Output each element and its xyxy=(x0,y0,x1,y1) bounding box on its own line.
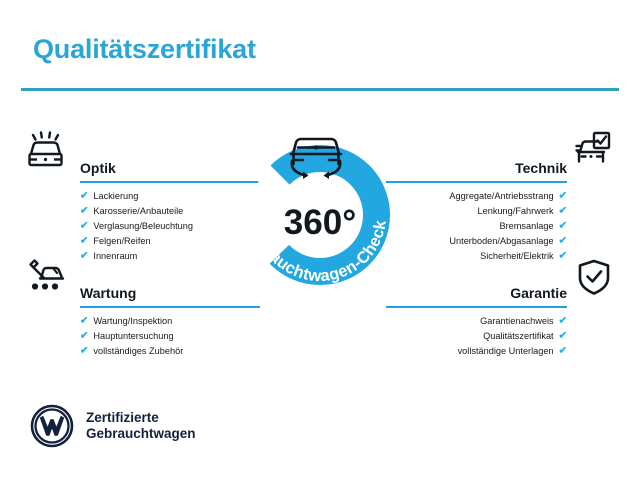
list-item-label: Garantienachweis xyxy=(480,315,554,328)
section-optik-title: Optik xyxy=(80,161,116,175)
list-item-label: Unterboden/Abgasanlage xyxy=(449,235,553,248)
section-wartung-title: Wartung xyxy=(80,286,136,300)
list-item: Qualitätszertifikat ✔ xyxy=(386,330,567,343)
list-item-label: Verglasung/Beleuchtung xyxy=(93,220,193,233)
wrench-car-icon xyxy=(24,255,70,297)
list-item-label: Aggregate/Antriebsstrang xyxy=(449,190,553,203)
list-item: Sicherheit/Elektrik ✔ xyxy=(386,250,567,263)
check-icon: ✔ xyxy=(559,316,567,326)
list-item-label: Hauptuntersuchung xyxy=(93,330,173,343)
list-item: vollständige Unterlagen ✔ xyxy=(386,345,567,358)
check-icon: ✔ xyxy=(559,331,567,341)
check-icon: ✔ xyxy=(80,251,88,261)
list-item: ✔ Wartung/Inspektion xyxy=(80,315,260,328)
badge-360-gebrauchtwagen-check: Gebrauchtwagen-Check 360° xyxy=(228,118,412,308)
check-icon: ✔ xyxy=(80,346,88,356)
section-technik-items: Aggregate/Antriebsstrang ✔ Lenkung/Fahrw… xyxy=(386,190,567,263)
list-item: Lenkung/Fahrwerk ✔ xyxy=(386,205,567,218)
car-checkbox-icon xyxy=(568,130,614,172)
list-item-label: Lackierung xyxy=(93,190,138,203)
section-technik: Technik Aggregate/Antriebsstrang ✔ Lenku… xyxy=(386,145,567,263)
shield-check-icon xyxy=(571,257,617,299)
section-technik-header: Technik xyxy=(386,145,567,175)
check-icon: ✔ xyxy=(80,236,88,246)
car-wash-icon xyxy=(24,130,70,172)
check-icon: ✔ xyxy=(80,316,88,326)
list-item-label: Qualitätszertifikat xyxy=(483,330,553,343)
check-icon: ✔ xyxy=(80,331,88,341)
list-item-label: Sicherheit/Elektrik xyxy=(480,250,554,263)
section-garantie-items: Garantienachweis ✔ Qualitätszertifikat ✔… xyxy=(386,315,567,358)
section-garantie-header: Garantie xyxy=(386,270,567,300)
check-icon: ✔ xyxy=(80,221,88,231)
list-item-label: Innenraum xyxy=(93,250,137,263)
badge-center-text: 360° xyxy=(284,203,356,242)
list-item: Garantienachweis ✔ xyxy=(386,315,567,328)
list-item-label: vollständiges Zubehör xyxy=(93,345,183,358)
footer-brand-text: Zertifizierte Gebrauchtwagen xyxy=(86,410,196,442)
list-item-label: Lenkung/Fahrwerk xyxy=(478,205,554,218)
check-icon: ✔ xyxy=(559,251,567,261)
page-title: Qualitätszertifikat xyxy=(33,34,256,65)
list-item: Unterboden/Abgasanlage ✔ xyxy=(386,235,567,248)
check-icon: ✔ xyxy=(559,236,567,246)
check-icon: ✔ xyxy=(559,191,567,201)
list-item: Aggregate/Antriebsstrang ✔ xyxy=(386,190,567,203)
list-item-label: vollständige Unterlagen xyxy=(458,345,554,358)
footer-brand-line1: Zertifizierte xyxy=(86,410,196,426)
section-garantie: Garantie Garantienachweis ✔ Qualitätszer… xyxy=(386,270,567,358)
list-item-label: Bremsanlage xyxy=(499,220,553,233)
check-icon: ✔ xyxy=(559,346,567,356)
list-item-label: Karosserie/Anbauteile xyxy=(93,205,183,218)
check-icon: ✔ xyxy=(559,221,567,231)
footer-brand: Zertifizierte Gebrauchtwagen xyxy=(30,404,196,448)
header-divider xyxy=(21,88,619,91)
check-icon: ✔ xyxy=(559,206,567,216)
section-technik-divider xyxy=(386,181,567,183)
section-garantie-title: Garantie xyxy=(510,286,567,300)
list-item-label: Felgen/Reifen xyxy=(93,235,150,248)
check-icon: ✔ xyxy=(80,191,88,201)
certificate-page: Qualitätszertifikat Optik xyxy=(0,0,640,480)
footer-brand-line2: Gebrauchtwagen xyxy=(86,426,196,442)
check-icon: ✔ xyxy=(80,206,88,216)
vw-logo-icon xyxy=(30,404,74,448)
section-garantie-divider xyxy=(386,306,567,308)
list-item: ✔ vollständiges Zubehör xyxy=(80,345,260,358)
list-item: Bremsanlage ✔ xyxy=(386,220,567,233)
list-item: ✔ Hauptuntersuchung xyxy=(80,330,260,343)
section-wartung-items: ✔ Wartung/Inspektion ✔ Hauptuntersuchung… xyxy=(80,315,260,358)
list-item-label: Wartung/Inspektion xyxy=(93,315,172,328)
section-technik-title: Technik xyxy=(515,161,567,175)
